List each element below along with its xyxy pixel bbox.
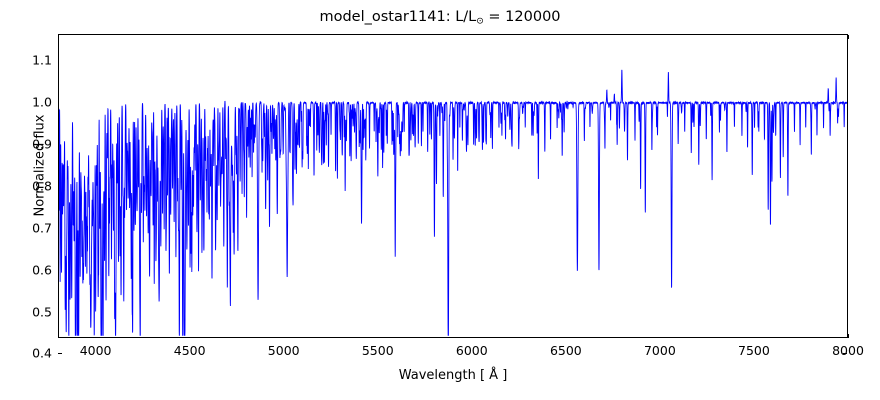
- y-axis-label: Normalized flux: [33, 66, 48, 266]
- x-axis-label: Wavelength [ Å ]: [58, 368, 848, 383]
- chart-title-tail: = 120000: [484, 9, 561, 25]
- x-tick-label: 7500: [719, 343, 789, 358]
- y-tick-label: 0.4: [6, 346, 52, 361]
- x-tick-label: 6500: [531, 343, 601, 358]
- x-tick-label: 7000: [625, 343, 695, 358]
- x-tick-mark: [848, 35, 849, 39]
- chart-title: model_ostar1141: L/L⊙ = 120000: [0, 9, 880, 26]
- solar-symbol-subscript: ⊙: [476, 16, 484, 26]
- x-tick-label: 6000: [437, 343, 507, 358]
- x-tick-label: 5500: [343, 343, 413, 358]
- spectrum-trace: [59, 70, 847, 335]
- x-tick-mark: [848, 334, 849, 338]
- x-tick-label: 4000: [61, 343, 131, 358]
- spectrum-figure: model_ostar1141: L/L⊙ = 120000 0.40.50.6…: [0, 0, 880, 400]
- x-tick-label: 8000: [813, 343, 880, 358]
- chart-title-main: model_ostar1141: L/L: [319, 9, 476, 25]
- y-tick-label: 0.5: [6, 304, 52, 319]
- x-tick-label: 4500: [155, 343, 225, 358]
- plot-area: [58, 34, 848, 338]
- x-tick-label: 5000: [249, 343, 319, 358]
- spectrum-line-series: [59, 35, 847, 337]
